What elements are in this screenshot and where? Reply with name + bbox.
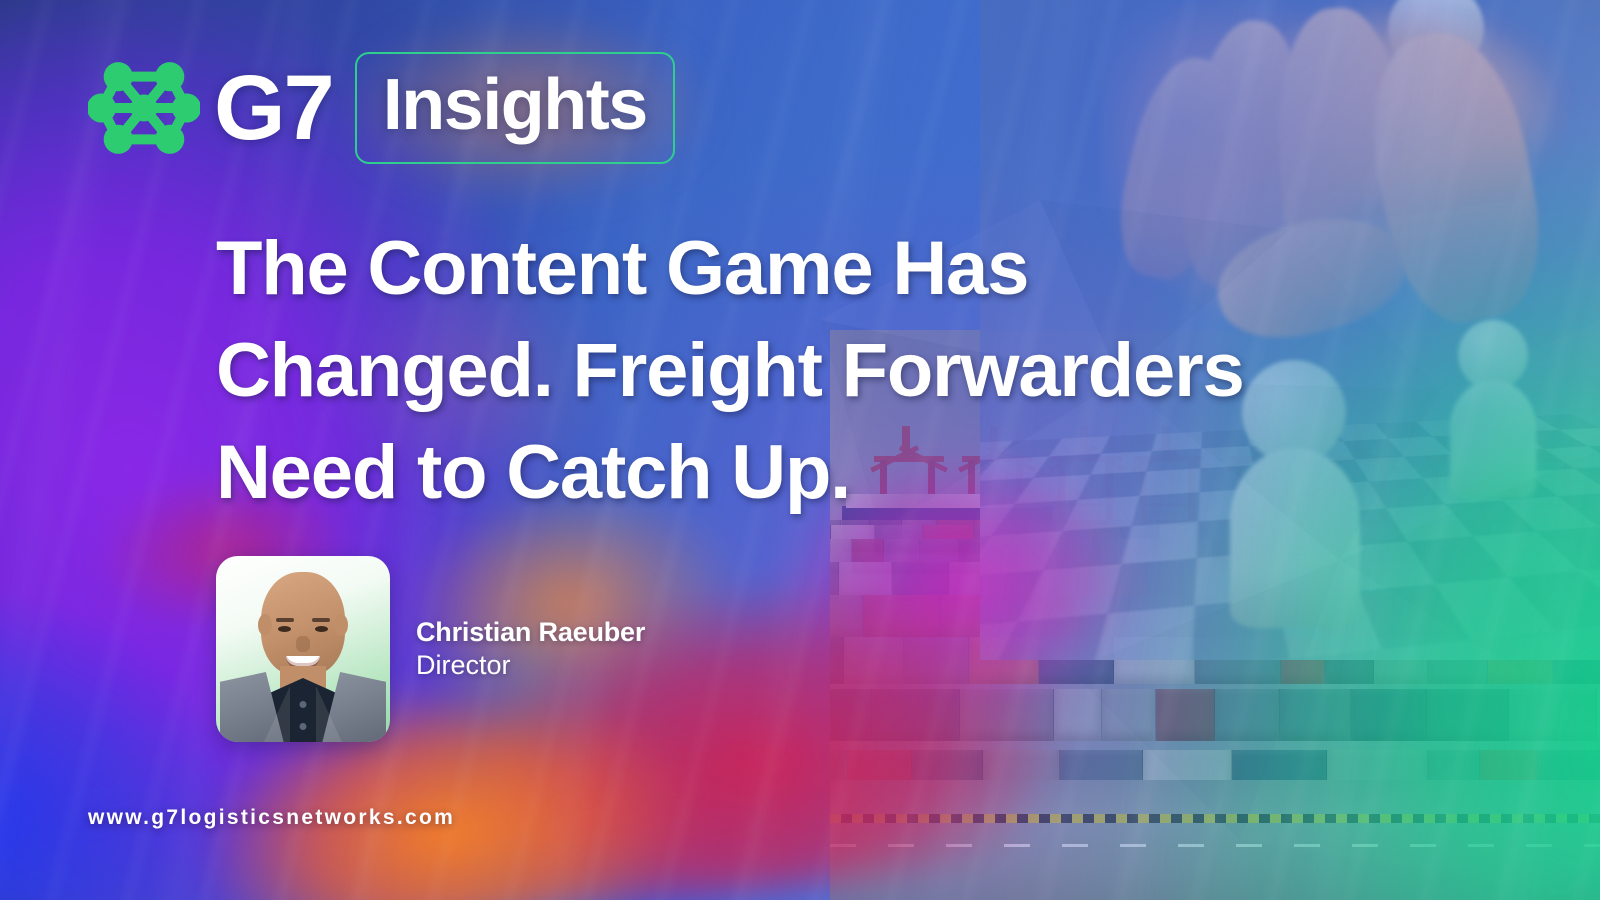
hexagon-network-icon: [88, 52, 200, 164]
brand-name: G7: [214, 62, 333, 154]
insights-badge-label: Insights: [383, 69, 647, 141]
author-block: Christian Raeuber Director: [216, 556, 645, 742]
avatar-shirt-button: [300, 701, 307, 708]
headline-line-3: Need to Catch Up.: [216, 422, 1406, 524]
avatar-nose: [296, 636, 310, 652]
website-url[interactable]: www.g7logisticsnetworks.com: [88, 806, 455, 830]
avatar-eye: [278, 626, 291, 632]
avatar-brow: [276, 618, 294, 622]
insights-banner: G7 Insights The Content Game Has Changed…: [0, 0, 1600, 900]
headline-line-1: The Content Game Has: [216, 218, 1406, 320]
avatar: [216, 556, 390, 742]
author-meta: Christian Raeuber Director: [416, 617, 645, 681]
author-name: Christian Raeuber: [416, 617, 645, 649]
headline-line-2: Changed. Freight Forwarders: [216, 320, 1406, 422]
insights-badge: Insights: [355, 52, 675, 164]
avatar-shirt-button: [300, 723, 307, 730]
banner-content: G7 Insights The Content Game Has Changed…: [0, 0, 1600, 900]
page-title: The Content Game Has Changed. Freight Fo…: [216, 218, 1406, 523]
author-role: Director: [416, 649, 645, 681]
brand-lockup: G7 Insights: [88, 52, 675, 164]
avatar-brow: [312, 618, 330, 622]
avatar-ear: [258, 614, 272, 636]
avatar-ear: [334, 614, 348, 636]
avatar-eye: [315, 626, 328, 632]
